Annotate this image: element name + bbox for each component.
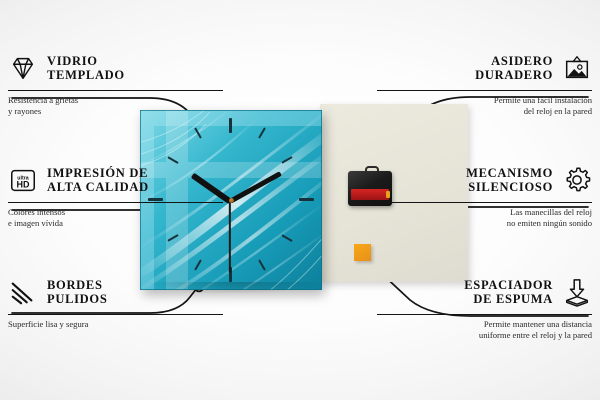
feature-title: MECANISMO SILENCIOSO [466, 166, 553, 195]
tick-1 [258, 127, 266, 138]
feature-header: BORDES PULIDOS [8, 272, 223, 312]
feature-title: ASIDERO DURADERO [475, 54, 553, 83]
divider [8, 202, 223, 203]
feature-desc-line1: Permite mantener una distancia [377, 319, 592, 330]
tick-5 [258, 259, 266, 270]
ultra-hd-badge-icon: ultra HD [8, 165, 38, 195]
feature-header: ESPACIADOR DE ESPUMA [377, 272, 592, 312]
gear-icon [562, 165, 592, 195]
feature-espaciador-de-espuma: ESPACIADOR DE ESPUMA Permite mantener un… [377, 272, 592, 340]
divider [377, 314, 592, 315]
feature-title: IMPRESIÓN DE ALTA CALIDAD [47, 166, 149, 195]
feature-desc-line1: Superficie lisa y segura [8, 319, 223, 330]
tick-4 [281, 234, 292, 242]
feature-desc-line2: del reloj en la pared [377, 106, 592, 117]
feature-header: MECANISMO SILENCIOSO [377, 160, 592, 200]
svg-text:HD: HD [17, 180, 30, 190]
feature-header: VIDRIO TEMPLADO [8, 48, 223, 88]
tick-7 [194, 259, 202, 270]
infographic-canvas: VIDRIO TEMPLADO Resistencia a grietas y … [0, 0, 600, 400]
feature-asidero-duradero: ASIDERO DURADERO Permite una fácil insta… [377, 48, 592, 116]
foam-spacer-icon [562, 277, 592, 307]
feature-desc-line1: Colores intensos [8, 207, 223, 218]
feature-title: VIDRIO TEMPLADO [47, 54, 125, 83]
feature-desc-line1: Permite una fácil instalación [377, 95, 592, 106]
feature-bordes-pulidos: BORDES PULIDOS Superficie lisa y segura [8, 272, 223, 330]
tick-2 [281, 156, 292, 164]
feature-desc-line1: Resistencia a grietas [8, 95, 223, 106]
feature-title: BORDES PULIDOS [47, 278, 107, 307]
feature-desc-line2: no emiten ningún sonido [377, 218, 592, 229]
divider [8, 90, 223, 91]
feature-mecanismo-silencioso: MECANISMO SILENCIOSO Las manecillas del … [377, 160, 592, 228]
tick-12 [229, 118, 232, 133]
foam-spacer [354, 244, 371, 261]
feature-header: ASIDERO DURADERO [377, 48, 592, 88]
picture-hanger-icon [562, 53, 592, 83]
feature-desc-line2: uniforme entre el reloj y la pared [377, 330, 592, 341]
feature-vidrio-templado: VIDRIO TEMPLADO Resistencia a grietas y … [8, 48, 223, 116]
minute-hand [229, 171, 282, 203]
divider [377, 90, 592, 91]
feature-impresion-alta-calidad: ultra HD IMPRESIÓN DE ALTA CALIDAD Color… [8, 160, 223, 228]
divider [377, 202, 592, 203]
tick-3 [299, 198, 314, 201]
feature-title: ESPACIADOR DE ESPUMA [464, 278, 553, 307]
feature-desc-line2: y rayones [8, 106, 223, 117]
diamond-icon [8, 53, 38, 83]
tick-11 [194, 127, 202, 138]
polished-edges-icon [8, 277, 38, 307]
hands-center-pin [229, 198, 234, 203]
divider [8, 314, 223, 315]
feature-desc-line1: Las manecillas del reloj [377, 207, 592, 218]
feature-header: ultra HD IMPRESIÓN DE ALTA CALIDAD [8, 160, 223, 200]
tick-8 [167, 234, 178, 242]
feature-desc-line2: e imagen vívida [8, 218, 223, 229]
second-hand [229, 201, 231, 273]
